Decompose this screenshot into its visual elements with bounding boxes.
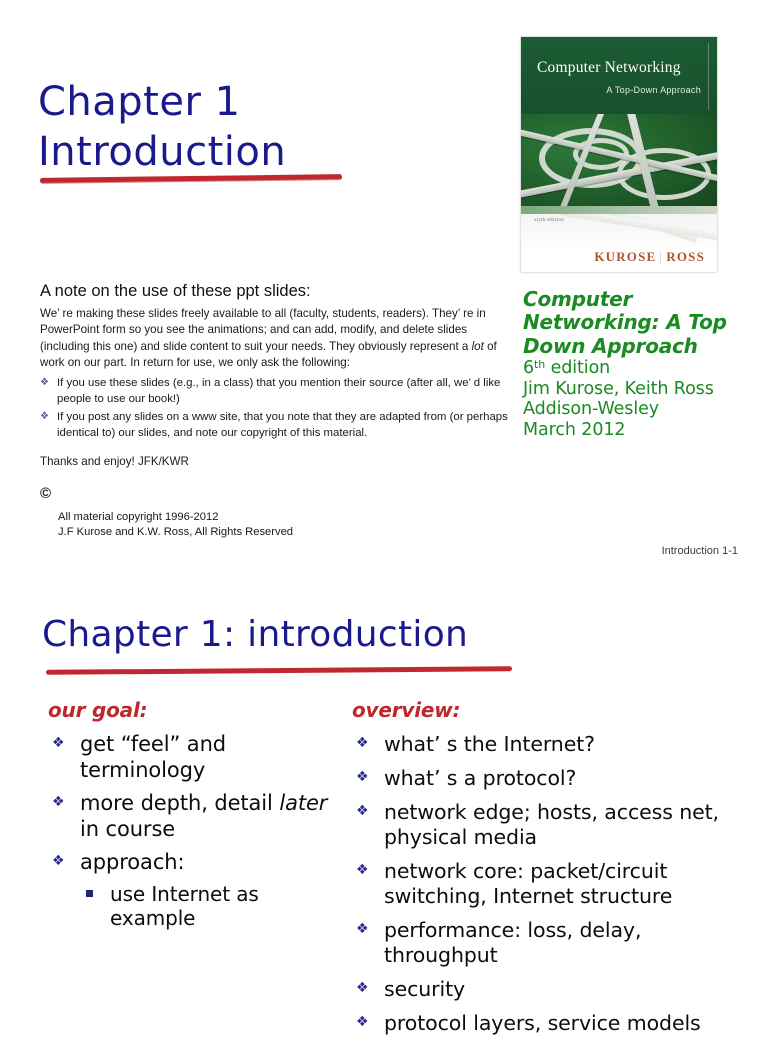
list-item-text-italic: later	[279, 791, 327, 815]
list-item-text: get “feel” and terminology	[80, 732, 226, 782]
cover-divider-band	[521, 206, 717, 214]
our-goal-heading: our goal:	[48, 698, 348, 722]
diamond-bullet-icon: ❖	[52, 736, 64, 750]
overview-list: ❖what’ s the Internet? ❖what’ s a protoc…	[352, 732, 752, 1036]
note-heading: A note on the use of these ppt slides:	[40, 282, 510, 302]
overview-column: overview: ❖what’ s the Internet? ❖what’ …	[352, 698, 752, 1045]
cover-edition-label: sixth edition	[534, 217, 564, 223]
list-item-text: network core: packet/circuit switching, …	[384, 859, 672, 908]
diamond-bullet-icon: ❖	[40, 409, 49, 424]
list-item-text: performance: loss, delay, throughput	[384, 918, 641, 967]
cover-subtitle: A Top-Down Approach	[606, 85, 701, 95]
list-item: ❖network edge; hosts, access net, physic…	[352, 800, 752, 850]
list-item-text-before: more depth, detail	[80, 791, 279, 815]
sub-list-item: use Internet as example	[80, 882, 348, 931]
cover-author-divider: |	[656, 249, 666, 264]
slide2-title-underline-stroke	[46, 666, 512, 675]
overview-heading: overview:	[352, 698, 752, 722]
list-item: ❖ more depth, detail later in course	[48, 791, 348, 842]
list-item-text: what’ s the Internet?	[384, 732, 595, 756]
note-thanks: Thanks and enjoy! JFK/KWR	[40, 454, 510, 470]
slide1-title: Chapter 1 Introduction	[38, 78, 286, 177]
list-item-text: security	[384, 977, 465, 1001]
slide2-title: Chapter 1: introduction	[42, 617, 468, 653]
note-bullet-item: ❖ If you post any slides on a www site, …	[40, 409, 510, 441]
note-bullet-text: If you use these slides (e.g., in a clas…	[57, 377, 500, 405]
list-item-text: approach:	[80, 850, 184, 874]
diamond-bullet-icon: ❖	[52, 795, 64, 809]
book-info-block: Computer Networking: A Top Down Approach…	[523, 288, 753, 440]
ppt-usage-note: A note on the use of these ppt slides: W…	[40, 282, 510, 539]
diamond-bullet-icon: ❖	[52, 854, 64, 868]
list-item-text: network edge; hosts, access net, physica…	[384, 800, 719, 849]
note-paragraph-italic: lot	[472, 340, 484, 353]
diamond-bullet-icon: ❖	[356, 770, 368, 784]
cover-author-left: KUROSE	[594, 249, 656, 264]
slide-1: Chapter 1 Introduction A note on the use…	[0, 0, 768, 580]
note-copyright: © All material copyright 1996-2012 J.F K…	[40, 482, 510, 539]
book-info-edition: 6th edition	[523, 358, 753, 378]
list-item: ❖network core: packet/circuit switching,…	[352, 859, 752, 909]
cover-authors: KUROSE|ROSS	[594, 249, 705, 265]
cover-title: Computer Networking	[537, 59, 681, 77]
diamond-bullet-icon: ❖	[356, 804, 368, 818]
copyright-text: All material copyright 1996-2012 J.F Kur…	[58, 511, 293, 537]
book-info-publisher: Addison-Wesley	[523, 399, 753, 419]
list-item-text-after: in course	[80, 817, 175, 841]
cover-author-right: ROSS	[666, 249, 705, 264]
copyright-icon: ©	[40, 486, 51, 501]
edition-word: edition	[545, 358, 610, 378]
diamond-bullet-icon: ❖	[356, 1015, 368, 1029]
note-paragraph-part1: We’ re making these slides freely availa…	[40, 307, 486, 353]
diamond-bullet-icon: ❖	[40, 375, 49, 390]
book-info-authors: Jim Kurose, Keith Ross	[523, 379, 753, 399]
note-bullet-list: ❖ If you use these slides (e.g., in a cl…	[40, 375, 510, 442]
approach-sublist: use Internet as example	[80, 882, 348, 931]
book-cover-image: Computer Networking A Top-Down Approach …	[521, 37, 717, 272]
diamond-bullet-icon: ❖	[356, 981, 368, 995]
slides-document: Chapter 1 Introduction A note on the use…	[0, 0, 768, 1024]
edition-suffix: th	[534, 358, 545, 371]
list-item: ❖ get “feel” and terminology	[48, 732, 348, 783]
list-item: ❖performance: loss, delay, throughput	[352, 918, 752, 968]
slide-2: Chapter 1: introduction our goal: ❖ get …	[0, 580, 768, 1024]
note-bullet-text: If you post any slides on a www site, th…	[57, 411, 508, 439]
square-bullet-icon	[86, 890, 93, 897]
diamond-bullet-icon: ❖	[356, 922, 368, 936]
list-item: ❖what’ s the Internet?	[352, 732, 752, 757]
our-goal-list: ❖ get “feel” and terminology ❖ more dept…	[48, 732, 348, 931]
sub-list-item-text: use Internet as example	[110, 882, 259, 930]
list-item: ❖what’ s a protocol?	[352, 766, 752, 791]
list-item-text: what’ s a protocol?	[384, 766, 576, 790]
note-paragraph: We’ re making these slides freely availa…	[40, 306, 510, 372]
slide1-footer: Introduction 1-1	[662, 545, 738, 557]
list-item: ❖ approach: use Internet as example	[48, 850, 348, 930]
list-item-text: protocol layers, service models	[384, 1011, 701, 1035]
note-bullet-item: ❖ If you use these slides (e.g., in a cl…	[40, 375, 510, 407]
diamond-bullet-icon: ❖	[356, 863, 368, 877]
our-goal-column: our goal: ❖ get “feel” and terminology ❖…	[48, 698, 348, 939]
diamond-bullet-icon: ❖	[356, 736, 368, 750]
edition-number: 6	[523, 358, 534, 378]
book-info-title: Computer Networking: A Top Down Approach	[523, 288, 753, 358]
list-item: ❖security	[352, 977, 752, 1002]
cover-highway-photo	[521, 114, 717, 206]
book-info-date: March 2012	[523, 420, 753, 440]
